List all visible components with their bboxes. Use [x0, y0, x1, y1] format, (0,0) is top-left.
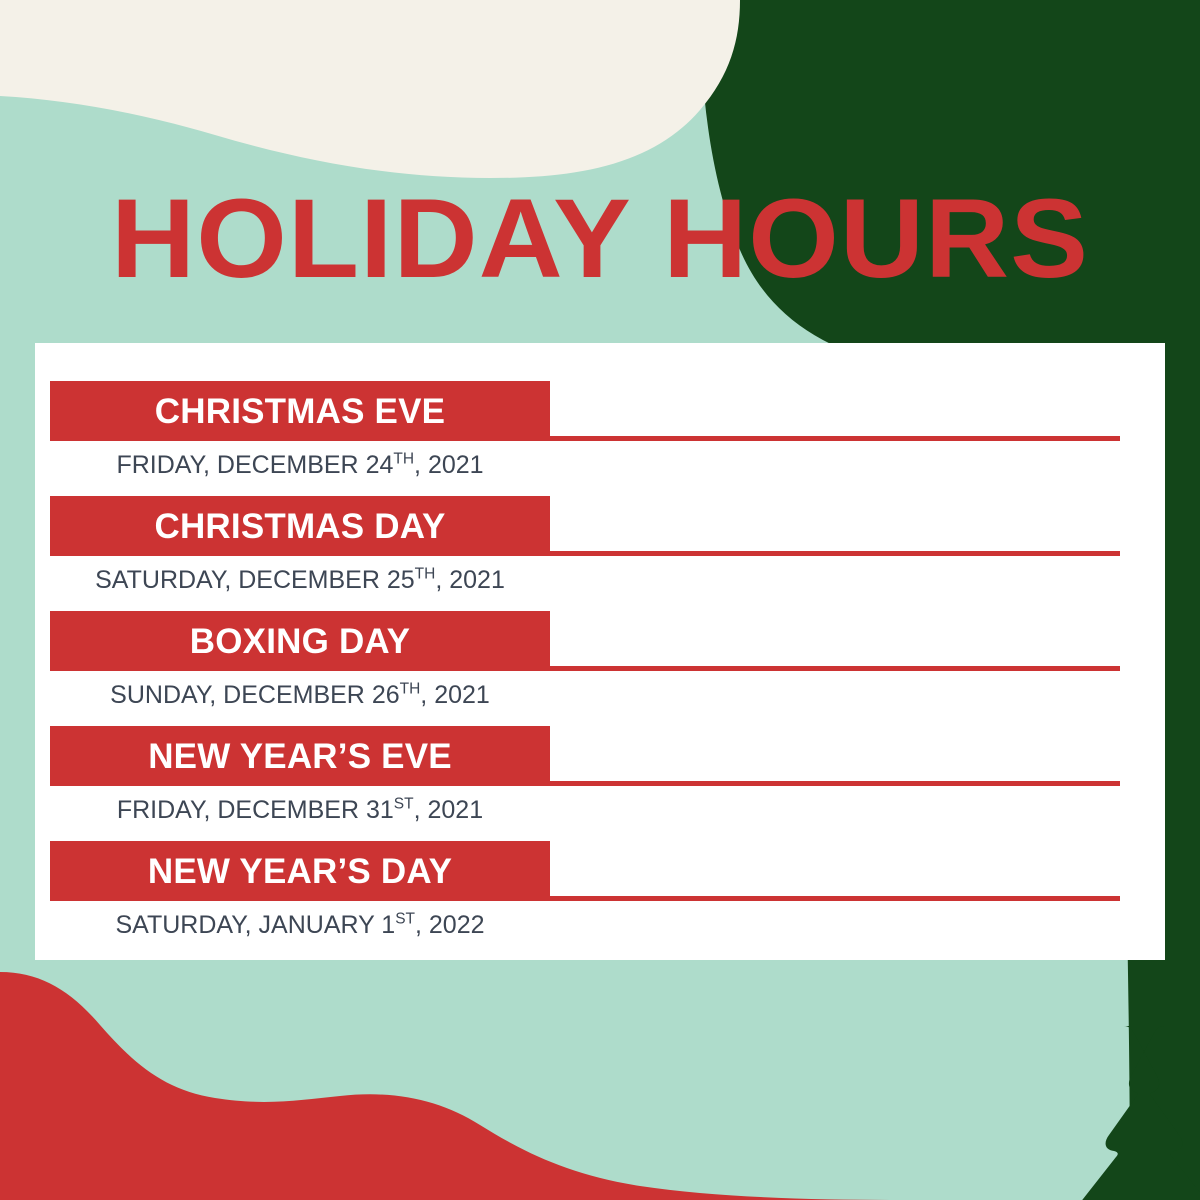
date-day-number: 31	[366, 796, 394, 824]
hours-writein-rule	[550, 551, 1120, 556]
table-row: BOXING DAY SUNDAY, DECEMBER 26TH, 2021	[35, 611, 1165, 726]
date-ordinal-suffix: TH	[415, 566, 436, 583]
hours-writein-rule	[550, 781, 1120, 786]
table-row: CHRISTMAS EVE FRIDAY, DECEMBER 24TH, 202…	[35, 381, 1165, 496]
date-weekday-month: FRIDAY, DECEMBER	[117, 796, 366, 824]
holiday-name-bar: NEW YEAR’S EVE	[50, 726, 550, 786]
holiday-name-label: NEW YEAR’S DAY	[148, 854, 452, 889]
date-weekday-month: SATURDAY, DECEMBER	[95, 566, 387, 594]
holiday-name-label: CHRISTMAS DAY	[154, 509, 445, 544]
holiday-date-label: FRIDAY, DECEMBER 31ST, 2021	[50, 790, 550, 830]
date-year: , 2022	[415, 911, 485, 939]
page-title: HOLIDAY HOURS	[0, 183, 1200, 295]
schedule-card: CHRISTMAS EVE FRIDAY, DECEMBER 24TH, 202…	[35, 343, 1165, 960]
holiday-hours-poster: HOLIDAY HOURS CHRISTMAS EVE FRIDAY, DECE…	[0, 0, 1200, 1200]
date-ordinal-suffix: ST	[395, 911, 415, 928]
date-ordinal-suffix: ST	[394, 796, 414, 813]
holiday-date-label: SATURDAY, DECEMBER 25TH, 2021	[50, 560, 550, 600]
holiday-name-label: CHRISTMAS EVE	[155, 394, 445, 429]
date-day-number: 1	[381, 911, 395, 939]
date-year: , 2021	[414, 796, 484, 824]
hours-writein-rule	[550, 666, 1120, 671]
holiday-name-bar: CHRISTMAS DAY	[50, 496, 550, 556]
date-weekday-month: SUNDAY, DECEMBER	[110, 681, 372, 709]
date-ordinal-suffix: TH	[393, 451, 414, 468]
table-row: NEW YEAR’S EVE FRIDAY, DECEMBER 31ST, 20…	[35, 726, 1165, 841]
hours-writein-rule	[550, 436, 1120, 441]
date-weekday-month: SATURDAY, JANUARY	[115, 911, 381, 939]
table-row: NEW YEAR’S DAY SATURDAY, JANUARY 1ST, 20…	[35, 841, 1165, 956]
holiday-date-label: FRIDAY, DECEMBER 24TH, 2021	[50, 445, 550, 485]
holiday-name-bar: NEW YEAR’S DAY	[50, 841, 550, 901]
holiday-name-bar: BOXING DAY	[50, 611, 550, 671]
date-ordinal-suffix: TH	[400, 681, 421, 698]
hours-writein-rule	[550, 896, 1120, 901]
date-day-number: 26	[372, 681, 400, 709]
holiday-date-label: SUNDAY, DECEMBER 26TH, 2021	[50, 675, 550, 715]
holiday-date-label: SATURDAY, JANUARY 1ST, 2022	[50, 905, 550, 945]
date-year: , 2021	[420, 681, 490, 709]
date-day-number: 24	[366, 451, 394, 479]
date-weekday-month: FRIDAY, DECEMBER	[116, 451, 365, 479]
date-year: , 2021	[435, 566, 505, 594]
table-row: CHRISTMAS DAY SATURDAY, DECEMBER 25TH, 2…	[35, 496, 1165, 611]
holiday-name-label: BOXING DAY	[190, 624, 410, 659]
date-day-number: 25	[387, 566, 415, 594]
holiday-name-bar: CHRISTMAS EVE	[50, 381, 550, 441]
holiday-name-label: NEW YEAR’S EVE	[148, 739, 452, 774]
date-year: , 2021	[414, 451, 484, 479]
